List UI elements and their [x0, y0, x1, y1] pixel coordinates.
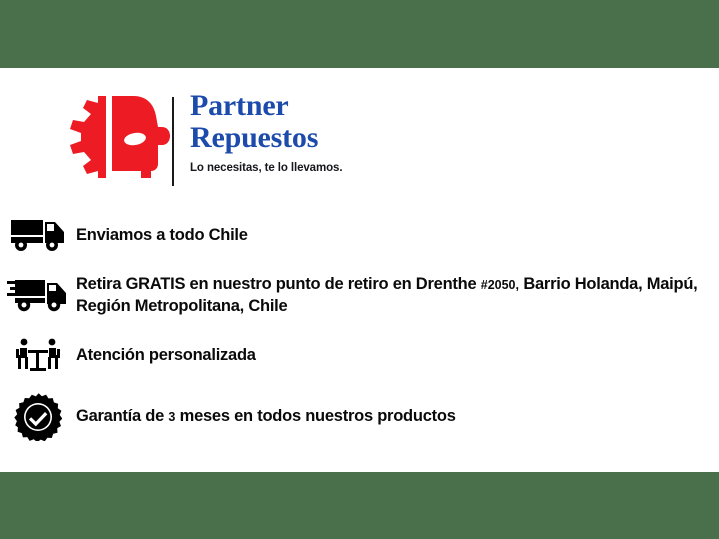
promo-banner: Partner Repuestos Lo necesitas, te lo ll… — [0, 0, 719, 539]
feature-text-warranty: Garantía de 3 meses en todos nuestros pr… — [76, 406, 476, 428]
brand-line-1: Partner — [190, 90, 610, 122]
logo-wordmark: Partner Repuestos Lo necesitas, te lo ll… — [190, 90, 610, 175]
delivery-truck-icon — [0, 218, 76, 252]
gear-car-icon — [58, 94, 170, 180]
feature-text-shipping: Enviamos a todo Chile — [76, 225, 268, 246]
feature-text-pickup: Retira GRATIS en nuestro punto de retiro… — [76, 274, 719, 317]
people-at-table-icon — [0, 337, 76, 373]
top-green-band — [0, 0, 719, 68]
fast-delivery-truck-icon — [0, 276, 76, 314]
logo-divider — [172, 97, 174, 186]
feature-text-attention: Atención personalizada — [76, 345, 276, 366]
bottom-green-band — [0, 472, 719, 539]
warranty-badge-check-icon — [0, 393, 76, 441]
logo-tagline: Lo necesitas, te lo llevamos. — [190, 162, 610, 175]
feature-row-pickup: Retira GRATIS en nuestro punto de retiro… — [0, 269, 719, 321]
feature-row-attention: Atención personalizada — [0, 333, 719, 377]
brand-line-2: Repuestos — [190, 122, 610, 154]
feature-row-warranty: Garantía de 3 meses en todos nuestros pr… — [0, 393, 719, 441]
logo-block: Partner Repuestos Lo necesitas, te lo ll… — [0, 88, 719, 193]
feature-row-shipping: Enviamos a todo Chile — [0, 213, 719, 257]
